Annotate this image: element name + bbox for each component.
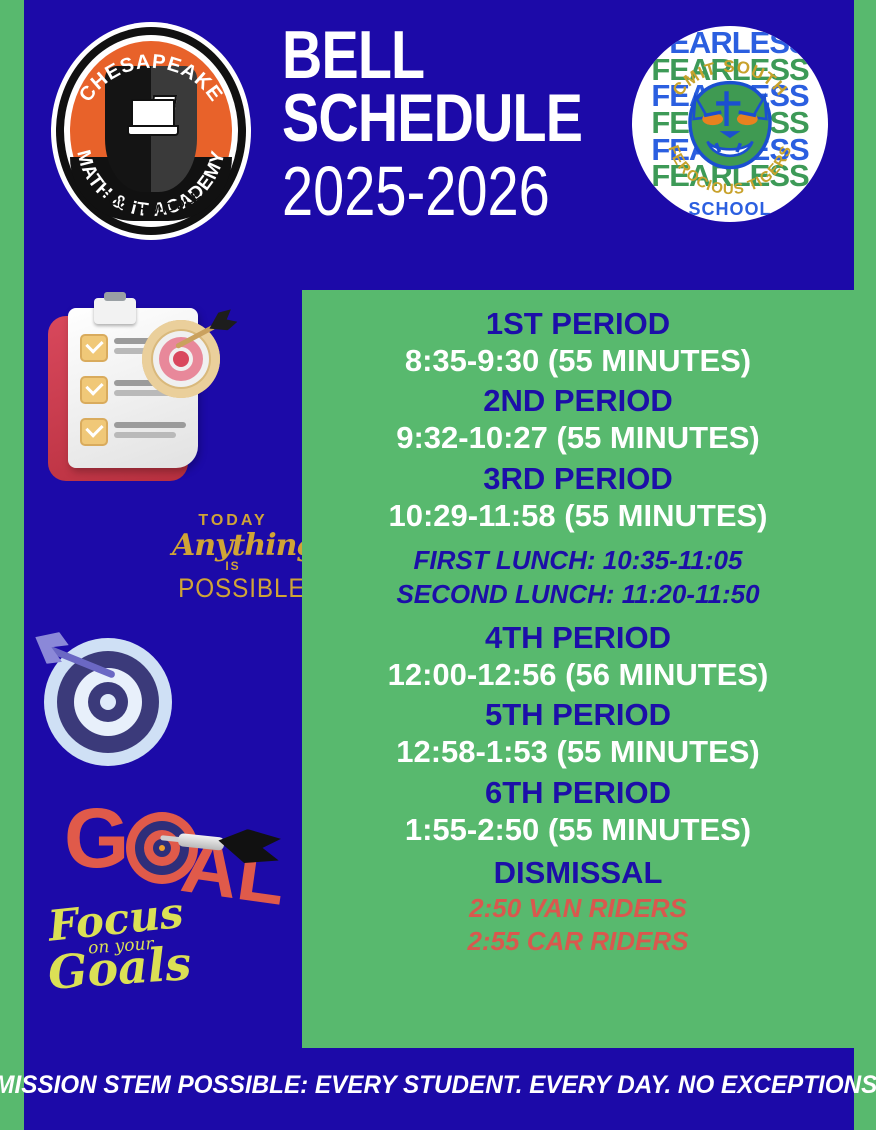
schedule-entry: 6TH PERIOD 1:55-2:50 (55 MINUTES) bbox=[302, 775, 854, 848]
quote-focus-on-your-goals: Focus on your Goals bbox=[48, 898, 218, 1038]
check-icon bbox=[85, 377, 103, 395]
check-icon bbox=[85, 335, 103, 353]
clipboard-clip bbox=[94, 298, 136, 324]
logo-shield-icon bbox=[105, 66, 197, 192]
cmit-south-fearless-tigers-logo: FEARLESS FEARLESS FEARLESS FEARLESS FEAR… bbox=[632, 26, 828, 222]
period-time: 1:55-2:50 (55 MINUTES) bbox=[302, 811, 854, 849]
lunch-second: SECOND LUNCH: 11:20-11:50 bbox=[302, 578, 854, 612]
period-time: 9:32-10:27 (55 MINUTES) bbox=[302, 419, 854, 457]
checklist-clipboard-icon bbox=[42, 302, 212, 492]
lunch-block: FIRST LUNCH: 10:35-11:05 SECOND LUNCH: 1… bbox=[302, 544, 854, 612]
title-line-2: SCHEDULE bbox=[282, 87, 569, 150]
page-title: BELL SCHEDULE 2025-2026 bbox=[282, 24, 632, 226]
laptop-screen bbox=[131, 99, 175, 128]
quote-line-goals: Goals bbox=[47, 940, 220, 995]
period-label: 1ST PERIOD bbox=[302, 306, 854, 342]
dismissal-block: DISMISSAL 2:50 VAN RIDERS 2:55 CAR RIDER… bbox=[302, 854, 854, 959]
quote-today-anything-possible: TODAY Anything IS POSSIBLE bbox=[172, 512, 294, 622]
dart-barrel bbox=[178, 833, 225, 851]
schedule-entry: 4TH PERIOD 12:00-12:56 (56 MINUTES) bbox=[302, 620, 854, 693]
decorative-image-column: TODAY Anything IS POSSIBLE G AL bbox=[24, 290, 302, 1048]
school-motto: “MISSION STEM POSSIBLE: EVERY STUDENT. E… bbox=[0, 1071, 876, 1100]
svg-text:CMIT SOUTH: CMIT SOUTH bbox=[669, 57, 791, 100]
laptop-base bbox=[127, 125, 179, 136]
logo-gold-arc-top-label: CMIT SOUTH bbox=[669, 57, 791, 100]
goal-letter-g: G bbox=[64, 796, 129, 880]
target-center bbox=[100, 694, 116, 710]
logo-gold-arc-bottom-label: FEROCIOUS TIGERS bbox=[664, 143, 795, 198]
lunch-first: FIRST LUNCH: 10:35-11:05 bbox=[302, 544, 854, 578]
bell-schedule-poster: CHESAPEAKE MATH & IT ACADEMY SOUTH MIDDL… bbox=[0, 0, 876, 1130]
bell-schedule-panel: 1ST PERIOD 8:35-9:30 (55 MINUTES) 2ND PE… bbox=[302, 290, 854, 1048]
dart-fin bbox=[205, 307, 239, 338]
period-label: 2ND PERIOD bbox=[302, 383, 854, 419]
check-icon bbox=[85, 419, 103, 437]
dartboard-bullseye bbox=[173, 351, 189, 367]
poster-header: CHESAPEAKE MATH & IT ACADEMY SOUTH MIDDL… bbox=[24, 0, 854, 290]
logo-gold-arc-text: CMIT SOUTH FEROCIOUS TIGERS bbox=[632, 26, 828, 222]
period-time: 8:35-9:30 (55 MINUTES) bbox=[302, 342, 854, 380]
period-label: 5TH PERIOD bbox=[302, 697, 854, 733]
svg-text:FEROCIOUS TIGERS: FEROCIOUS TIGERS bbox=[664, 143, 795, 198]
checklist-row bbox=[80, 418, 188, 442]
dart-fin bbox=[28, 625, 72, 669]
schedule-entry: 5TH PERIOD 12:58-1:53 (55 MINUTES) bbox=[302, 697, 854, 770]
period-time: 12:00-12:56 (56 MINUTES) bbox=[302, 656, 854, 694]
van-riders-time: 2:50 VAN RIDERS bbox=[302, 892, 854, 926]
checklist-line bbox=[114, 432, 176, 438]
checkbox-icon bbox=[80, 334, 108, 362]
schedule-entry: 2ND PERIOD 9:32-10:27 (55 MINUTES) bbox=[302, 383, 854, 456]
quote-line-possible: POSSIBLE bbox=[178, 573, 288, 604]
period-time: 10:29-11:58 (55 MINUTES) bbox=[302, 497, 854, 535]
period-label: 6TH PERIOD bbox=[302, 775, 854, 811]
title-school-year: 2025-2026 bbox=[282, 156, 562, 226]
car-riders-time: 2:55 CAR RIDERS bbox=[302, 925, 854, 959]
checkbox-icon bbox=[80, 418, 108, 446]
checkbox-icon bbox=[80, 376, 108, 404]
period-time: 12:58-1:53 (55 MINUTES) bbox=[302, 733, 854, 771]
title-line-1: BELL bbox=[282, 24, 569, 87]
period-label: 3RD PERIOD bbox=[302, 461, 854, 497]
checklist-line bbox=[114, 422, 186, 428]
chesapeake-math-it-academy-logo: CHESAPEAKE MATH & IT ACADEMY SOUTH MIDDL… bbox=[51, 22, 251, 240]
schedule-entry: 3RD PERIOD 10:29-11:58 (55 MINUTES) bbox=[302, 461, 854, 534]
dismissal-label: DISMISSAL bbox=[302, 854, 854, 891]
laptop-icon bbox=[127, 99, 175, 135]
period-label: 4TH PERIOD bbox=[302, 620, 854, 656]
goal-word-graphic: G AL bbox=[64, 790, 294, 900]
schedule-entry: 1ST PERIOD 8:35-9:30 (55 MINUTES) bbox=[302, 306, 854, 379]
quote-line-anything: Anything bbox=[172, 528, 294, 563]
logo-school-label: SCHOOL bbox=[632, 199, 828, 220]
poster-footer: “MISSION STEM POSSIBLE: EVERY STUDENT. E… bbox=[24, 1055, 854, 1115]
